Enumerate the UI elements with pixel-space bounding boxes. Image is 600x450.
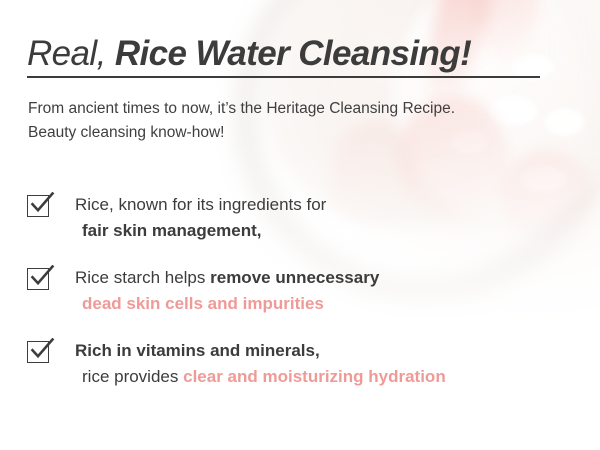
benefit-list: Rice, known for its ingredients for fair… [27, 192, 587, 390]
text-bold: fair skin management, [82, 221, 262, 240]
list-item: Rich in vitamins and minerals, rice prov… [27, 338, 587, 390]
checkmark-icon [29, 192, 55, 218]
subtitle: From ancient times to now, it’s the Heri… [28, 97, 455, 145]
list-item-line-2: dead skin cells and impurities [75, 291, 587, 317]
title-underline [27, 76, 540, 78]
checkbox-checked-icon [27, 268, 53, 294]
text-bold: Rich in vitamins and minerals, [75, 341, 320, 360]
list-item-line-1: Rice, known for its ingredients for [75, 192, 587, 218]
title-emphasis: Rice Water Cleansing! [115, 34, 471, 73]
checkmark-icon [29, 265, 55, 291]
text-regular: rice provides [82, 367, 183, 386]
list-item-line-2: fair skin management, [75, 218, 587, 244]
list-item-line-1: Rich in vitamins and minerals, [75, 338, 587, 364]
list-item-line-2: rice provides clear and moisturizing hyd… [75, 364, 587, 390]
checkmark-icon [29, 338, 55, 364]
banner-content: Real, Rice Water Cleansing! From ancient… [0, 0, 600, 450]
subtitle-line-2: Beauty cleansing know-how! [28, 121, 455, 145]
text-accent: dead skin cells and impurities [82, 294, 324, 313]
promo-banner: Real, Rice Water Cleansing! From ancient… [0, 0, 600, 450]
checkbox-checked-icon [27, 195, 53, 221]
checkbox-checked-icon [27, 341, 53, 367]
list-item: Rice, known for its ingredients for fair… [27, 192, 587, 244]
title-lead: Real, [27, 34, 106, 73]
list-item: Rice starch helps remove unnecessary dea… [27, 265, 587, 317]
text-regular: Rice, known for its ingredients for [75, 195, 326, 214]
text-accent: clear and moisturizing hydration [183, 367, 446, 386]
text-bold: remove unnecessary [210, 268, 379, 287]
page-title: Real, Rice Water Cleansing! [27, 34, 471, 74]
text-regular: Rice starch helps [75, 268, 210, 287]
subtitle-line-1: From ancient times to now, it’s the Heri… [28, 97, 455, 121]
list-item-line-1: Rice starch helps remove unnecessary [75, 265, 587, 291]
